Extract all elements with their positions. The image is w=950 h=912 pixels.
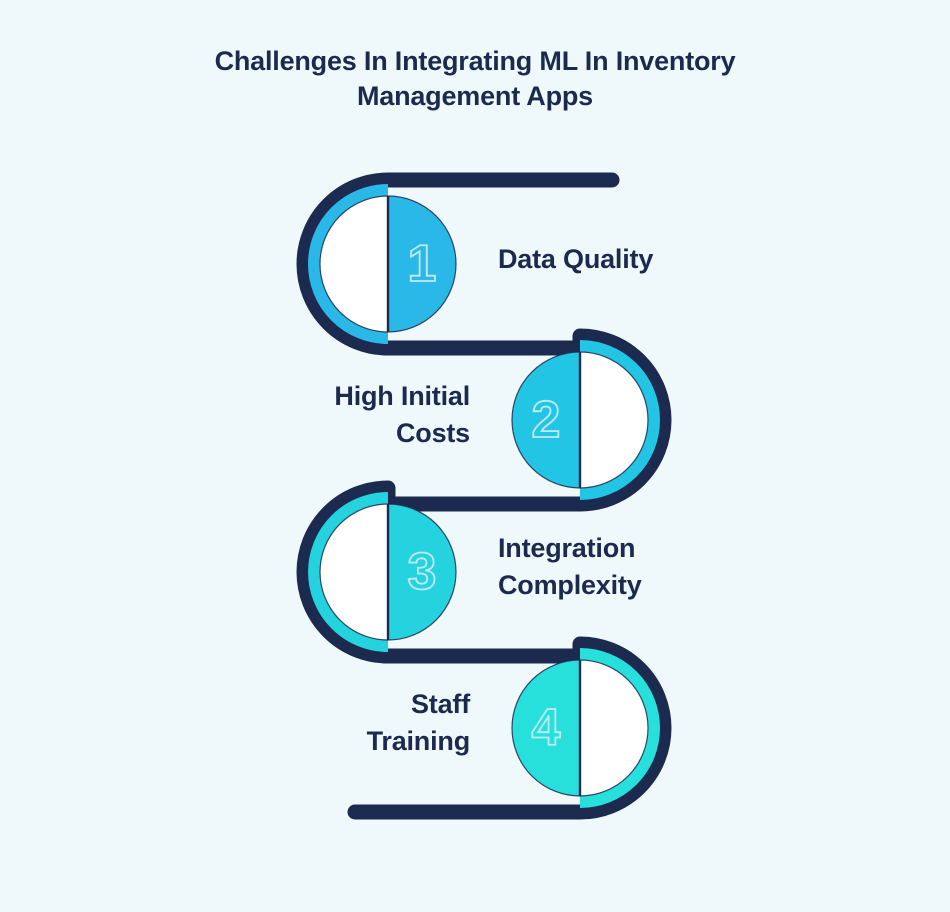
node-number: 4: [532, 699, 561, 757]
node-label-4: Staff Training: [170, 686, 470, 761]
flow-node-3[interactable]: 3: [315, 499, 456, 645]
node-number: 2: [532, 391, 561, 449]
flow-node-4[interactable]: 4: [512, 655, 653, 801]
infographic-canvas: Challenges In Integrating ML In Inventor…: [0, 0, 950, 912]
node-label-2: High Initial Costs: [170, 378, 470, 453]
node-label-3: Integration Complexity: [498, 530, 798, 605]
flow-node-2[interactable]: 2: [512, 347, 653, 493]
flow-node-1[interactable]: 1: [315, 191, 456, 337]
serpentine-flow-diagram: 1234: [0, 0, 950, 912]
node-number: 1: [408, 235, 437, 293]
node-number: 3: [408, 543, 437, 601]
node-label-1: Data Quality: [498, 241, 798, 278]
